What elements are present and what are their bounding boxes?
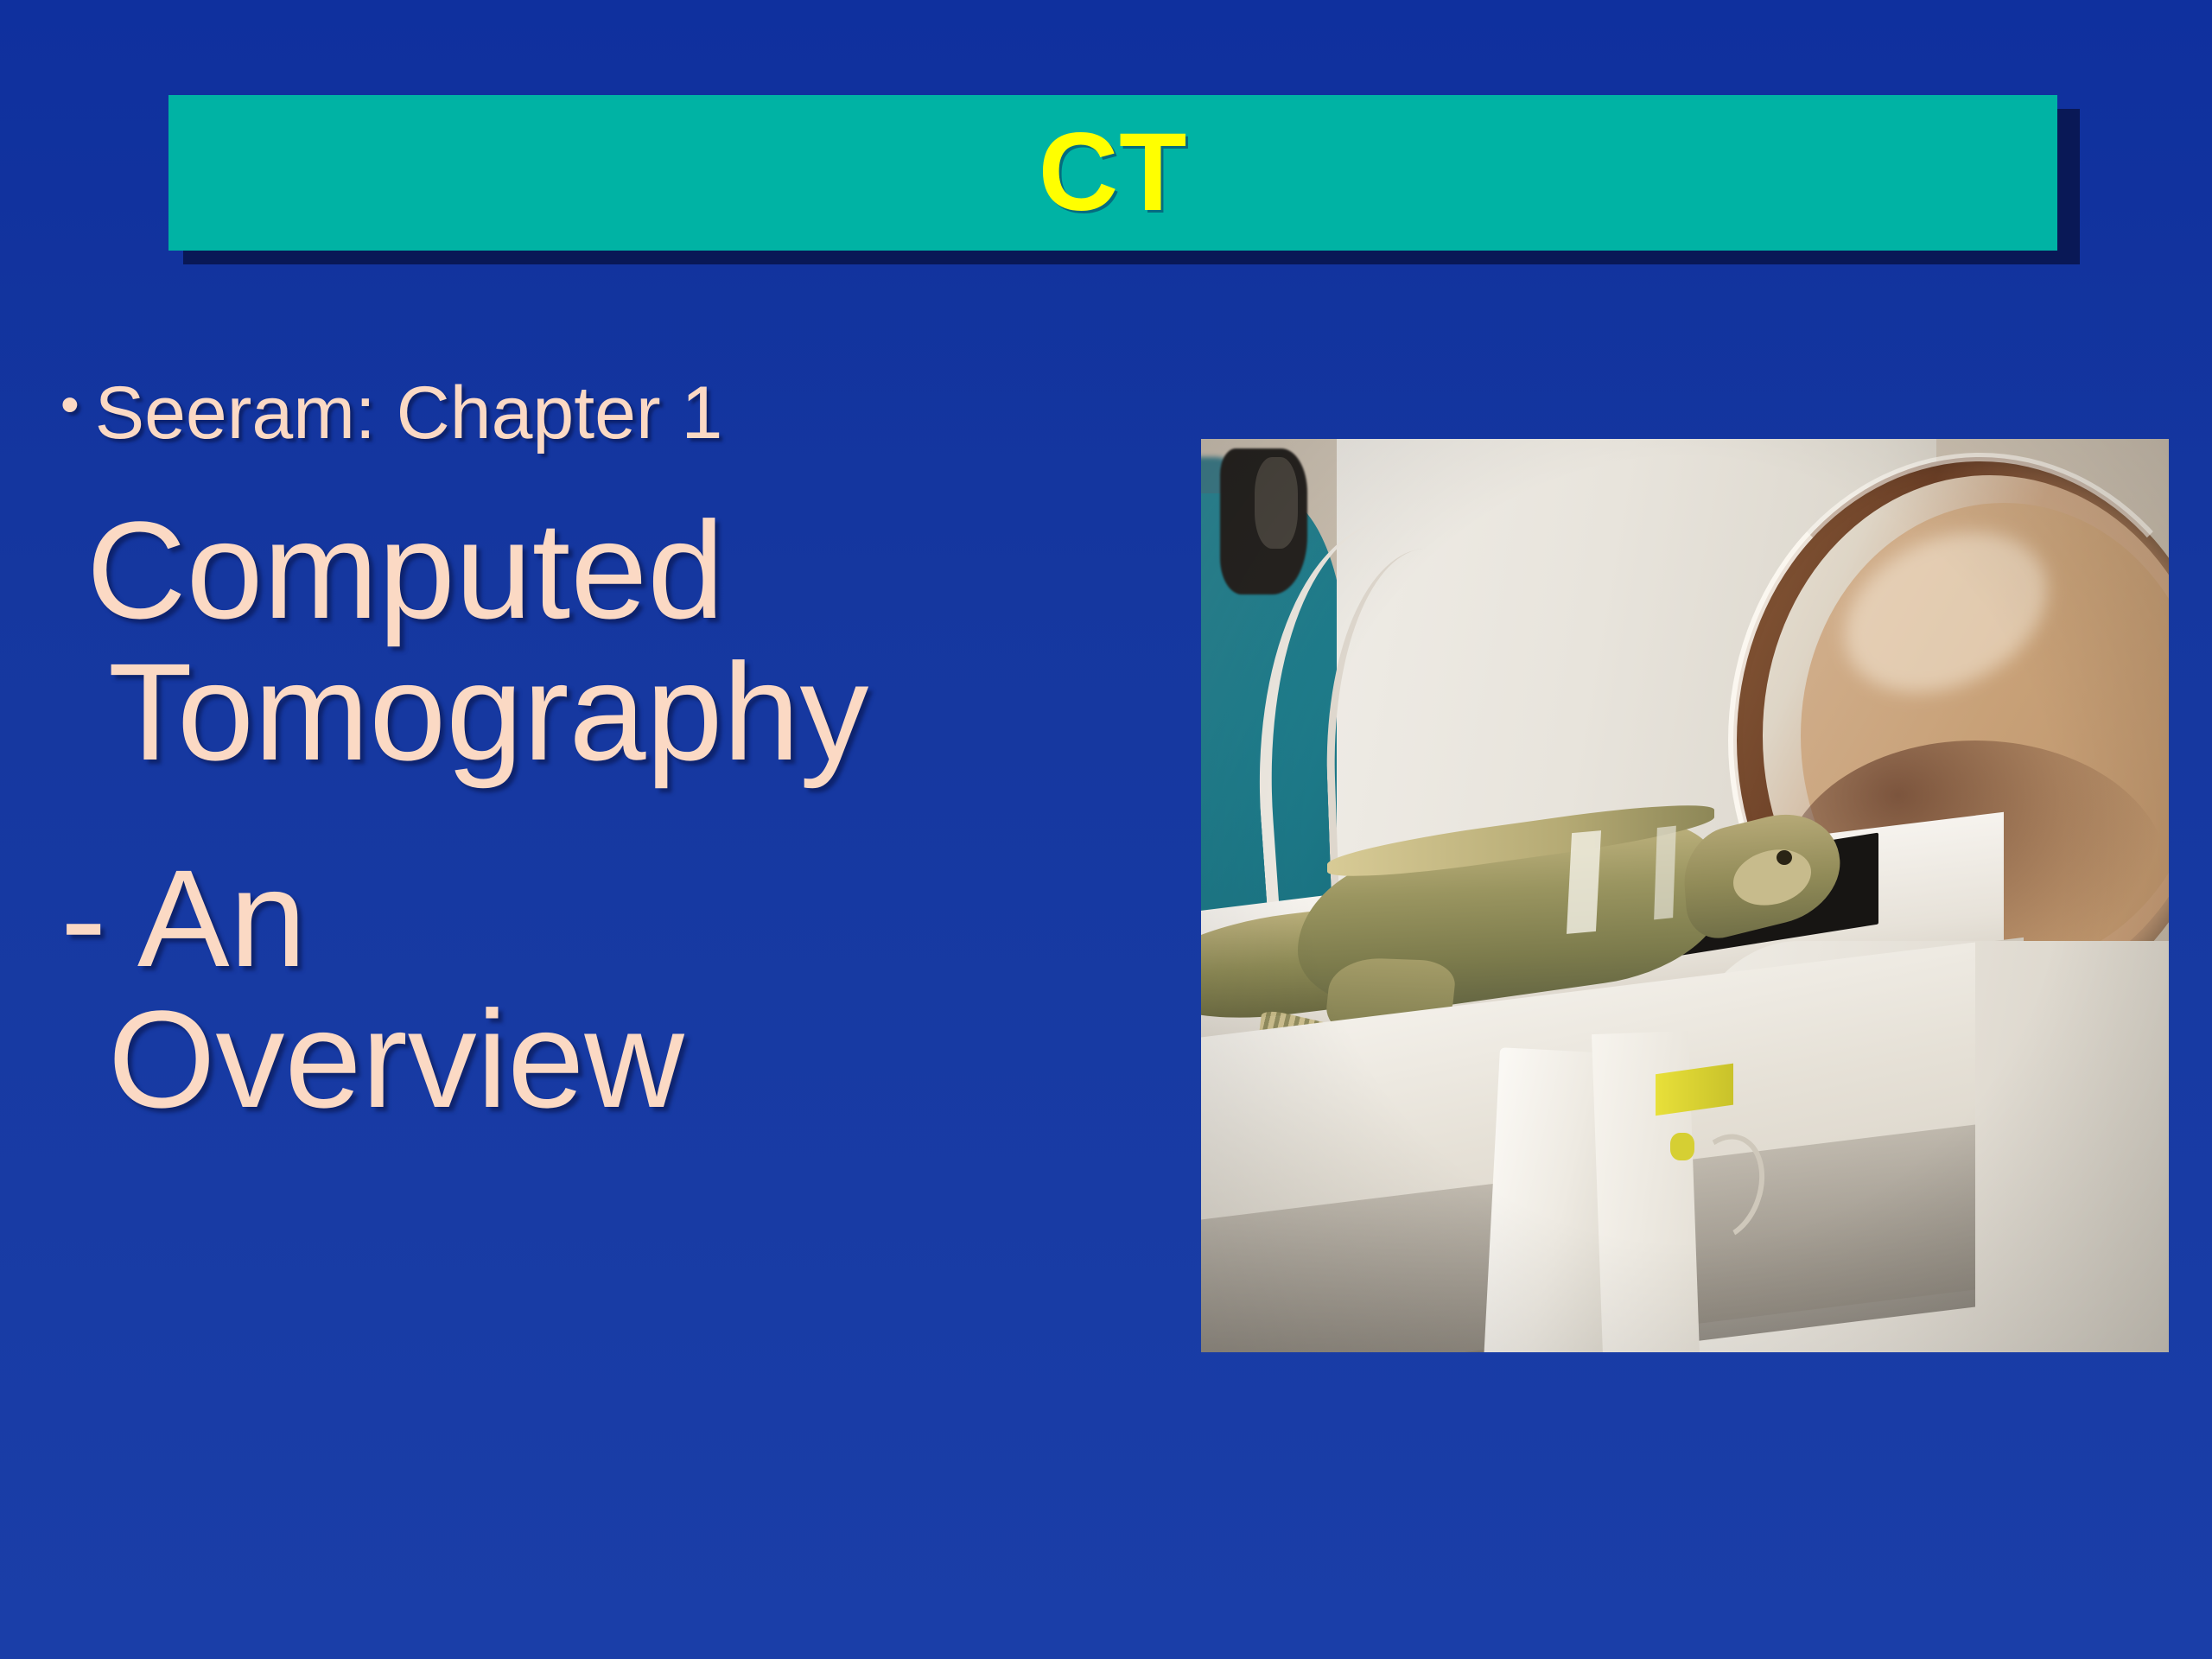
photo-equipment-highlight xyxy=(1255,457,1298,549)
heading-line-tomography: Tomography xyxy=(60,641,1201,782)
photo-restraint-strap-1 xyxy=(1567,830,1601,934)
photo-restraint-strap-2 xyxy=(1655,826,1677,920)
photo-iguana-eye xyxy=(1777,850,1792,865)
heading-line-overview: Overview xyxy=(60,988,1201,1129)
heading-line-computed: Computed xyxy=(60,499,1201,640)
photo-content xyxy=(1201,439,2169,1352)
ct-scanner-iguana-photo xyxy=(1201,439,2169,1352)
slide-canvas: CT • Seeram: Chapter 1 Computed Tomograp… xyxy=(0,0,2212,1659)
bullet-item-label: Seeram: Chapter 1 xyxy=(95,372,723,454)
page-title: CT xyxy=(1039,118,1188,228)
photo-yellow-marker xyxy=(1670,1133,1694,1160)
bullet-item-chapter: • Seeram: Chapter 1 xyxy=(60,372,1201,454)
bullet-point-icon: • xyxy=(60,372,79,439)
heading-line-an: - An xyxy=(60,848,1201,988)
title-bar: CT xyxy=(168,95,2057,251)
slide-body: • Seeram: Chapter 1 Computed Tomography … xyxy=(60,372,1201,1129)
